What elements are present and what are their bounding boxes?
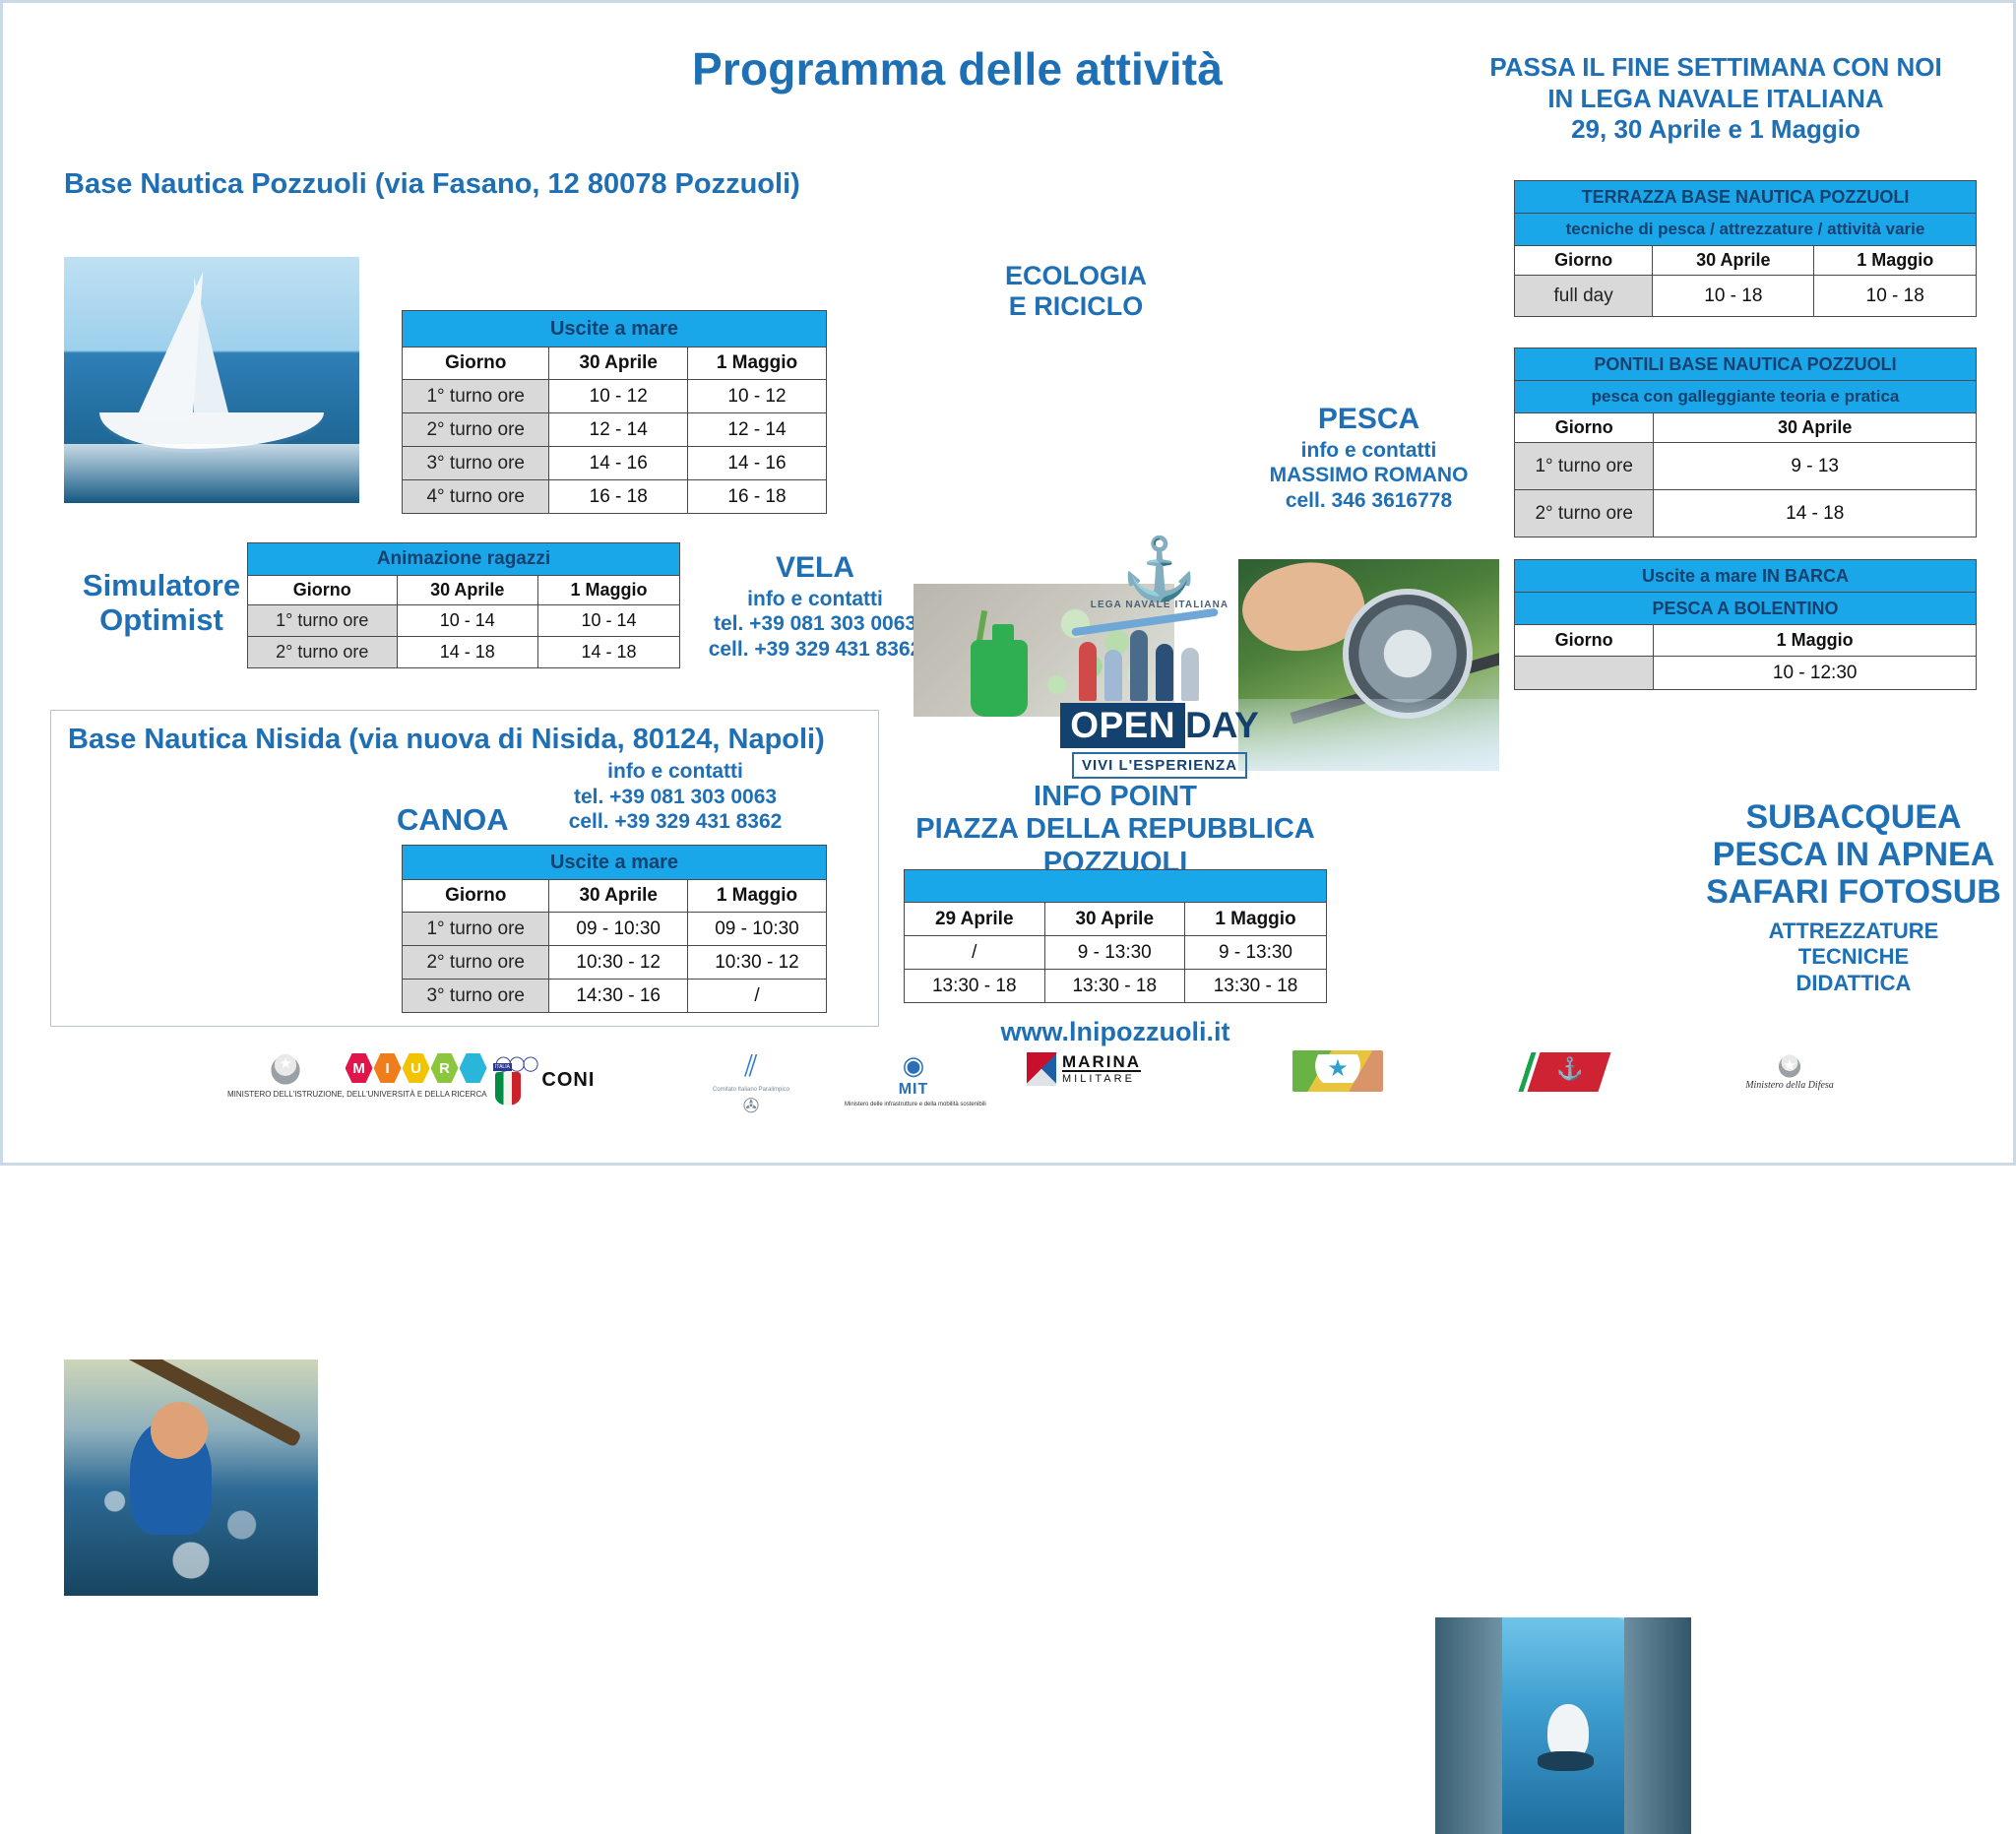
footer-logo-marina-militare: MARINA MILITARE bbox=[1027, 1052, 1141, 1086]
cell: 12 - 14 bbox=[687, 413, 826, 447]
table-subtitle: PESCA A BOLENTINO bbox=[1515, 593, 1977, 625]
col-header: Giorno bbox=[1515, 625, 1654, 657]
table-row: 2° turno ore 14 - 18 14 - 18 bbox=[248, 637, 680, 668]
page-title: Programma delle attività bbox=[692, 42, 1223, 95]
col-header: 1 Maggio bbox=[538, 576, 680, 605]
cell: 10 - 12:30 bbox=[1654, 657, 1977, 690]
cell: 13:30 - 18 bbox=[905, 970, 1045, 1003]
subacquea-line-1: SUBACQUEA bbox=[1706, 798, 2001, 836]
ecologia-line-1: ECOLOGIA bbox=[943, 261, 1209, 291]
row-header: 1° turno ore bbox=[248, 605, 398, 637]
difesa-caption: Ministero della Difesa bbox=[1716, 1080, 1863, 1091]
pesca-contact-block: PESCA info e contatti MASSIMO ROMANO cel… bbox=[1233, 402, 1504, 513]
table-row: 4° turno ore 16 - 18 16 - 18 bbox=[403, 480, 827, 514]
table-title: Uscite a mare IN BARCA bbox=[1515, 560, 1977, 593]
difesa-emblem-icon bbox=[1777, 1050, 1802, 1080]
table-title bbox=[905, 870, 1327, 903]
subacquea-subheading: ATTREZZATURE TECNICHE DIDATTICA bbox=[1706, 918, 2001, 996]
cell: 10 - 12 bbox=[687, 380, 826, 413]
table-row: 1° turno ore 10 - 14 10 - 14 bbox=[248, 605, 680, 637]
row-header: 2° turno ore bbox=[1515, 490, 1654, 538]
cell: / bbox=[687, 980, 826, 1013]
header-note: PASSA IL FINE SETTIMANA CON NOI IN LEGA … bbox=[1440, 52, 1991, 146]
row-header: 1° turno ore bbox=[403, 380, 549, 413]
footer-logo-lega-navale bbox=[1534, 1052, 1605, 1092]
table-title: Uscite a mare bbox=[403, 846, 827, 880]
row-header: 2° turno ore bbox=[403, 946, 549, 980]
row-header: 1° turno ore bbox=[403, 913, 549, 946]
openday-word: OPEN bbox=[1060, 703, 1185, 748]
cell: 10 - 12 bbox=[549, 380, 688, 413]
header-note-line-2: IN LEGA NAVALE ITALIANA bbox=[1440, 84, 1991, 115]
table-row: 1° turno ore 09 - 10:30 09 - 10:30 bbox=[403, 913, 827, 946]
table-title: Uscite a mare bbox=[403, 311, 827, 348]
col-header: 1 Maggio bbox=[1814, 246, 1977, 276]
table-row: / 9 - 13:30 9 - 13:30 bbox=[905, 936, 1327, 970]
subacquea-line-2: PESCA IN APNEA bbox=[1706, 836, 2001, 873]
cip-agitos-icon: ✇ bbox=[687, 1094, 815, 1118]
info-point-line-1: INFO POINT bbox=[889, 781, 1342, 813]
anchor-icon: ⚓ bbox=[1051, 542, 1268, 598]
footer-logo-regione-campania bbox=[1292, 1050, 1383, 1092]
coni-wordmark: CONI bbox=[541, 1069, 595, 1092]
cell: 14 - 18 bbox=[1654, 490, 1977, 538]
day-word: DAY bbox=[1185, 705, 1259, 745]
cell: 10 - 18 bbox=[1814, 276, 1977, 317]
col-header: Giorno bbox=[403, 348, 549, 380]
col-header: 30 Aprile bbox=[549, 348, 688, 380]
table-row: full day 10 - 18 10 - 18 bbox=[1515, 276, 1977, 317]
canoa-label: CANOA bbox=[397, 802, 509, 838]
info-point-heading: INFO POINT PIAZZA DELLA REPUBBLICA POZZU… bbox=[889, 781, 1342, 879]
row-header: 2° turno ore bbox=[403, 413, 549, 447]
table-subtitle: pesca con galleggiante teoria e pratica bbox=[1515, 381, 1977, 413]
row-header: full day bbox=[1515, 276, 1653, 317]
footer-logo-miur: M I U R MINISTERO DELL'ISTRUZIONE, DELL'… bbox=[227, 1048, 487, 1100]
cell: 14 - 18 bbox=[538, 637, 680, 668]
sailing-photo bbox=[64, 257, 359, 503]
table-uscite-barca: Uscite a mare IN BARCA PESCA A BOLENTINO… bbox=[1514, 559, 1977, 690]
canoe-photo bbox=[64, 1360, 318, 1596]
canoa-info-label: info e contatti bbox=[542, 759, 808, 785]
mit-caption: Ministero delle infrastrutture e della m… bbox=[845, 1102, 982, 1108]
ecologia-line-2: E RICICLO bbox=[943, 291, 1209, 322]
lni-org-label: LEGA NAVALE ITALIANA bbox=[1051, 600, 1268, 610]
col-header: 1 Maggio bbox=[687, 348, 826, 380]
pesca-info-label: info e contatti bbox=[1233, 438, 1504, 464]
mit-icon: ◉ bbox=[845, 1050, 982, 1081]
row-header: 3° turno ore bbox=[403, 447, 549, 480]
miur-caption: MINISTERO DELL'ISTRUZIONE, DELL'UNIVERSI… bbox=[227, 1091, 487, 1100]
footer-logos: M I U R MINISTERO DELL'ISTRUZIONE, DELL'… bbox=[3, 1043, 2016, 1151]
col-header: 30 Aprile bbox=[549, 880, 688, 913]
canoa-tel: tel. +39 081 303 0063 bbox=[542, 785, 808, 810]
miur-letter-m: M bbox=[346, 1053, 373, 1083]
table-uscite-mare-pozzuoli: Uscite a mare Giorno 30 Aprile 1 Maggio … bbox=[402, 310, 827, 514]
footer-logo-coni: ◯◯◯ CONI bbox=[495, 1054, 595, 1106]
lega-navale-icon bbox=[1528, 1052, 1611, 1092]
marina-flag-icon bbox=[1027, 1052, 1056, 1086]
row-header: 3° turno ore bbox=[403, 980, 549, 1013]
cell: 12 - 14 bbox=[549, 413, 688, 447]
vela-contact-block: VELA info e contatti tel. +39 081 303 00… bbox=[682, 550, 948, 662]
col-header: Giorno bbox=[1515, 413, 1654, 443]
subacquea-sub-1: ATTREZZATURE bbox=[1706, 918, 2001, 944]
canoa-cell: cell. +39 329 431 8362 bbox=[542, 809, 808, 835]
italy-shield-icon bbox=[495, 1072, 521, 1106]
row-header: 1° turno ore bbox=[1515, 443, 1654, 490]
table-row: 1° turno ore 9 - 13 bbox=[1515, 443, 1977, 490]
header-note-line-3: 29, 30 Aprile e 1 Maggio bbox=[1440, 114, 1991, 146]
ecologia-heading: ECOLOGIA E RICICLO bbox=[943, 261, 1209, 322]
vela-title: VELA bbox=[682, 550, 948, 587]
cell: 14:30 - 16 bbox=[549, 980, 688, 1013]
col-header: 30 Aprile bbox=[1653, 246, 1814, 276]
table-title: PONTILI BASE NAUTICA POZZUOLI bbox=[1515, 348, 1977, 381]
info-point-line-2: PIAZZA DELLA REPUBBLICA bbox=[889, 813, 1342, 846]
table-row: 2° turno ore 10:30 - 12 10:30 - 12 bbox=[403, 946, 827, 980]
cell: 14 - 16 bbox=[687, 447, 826, 480]
table-uscite-mare-nisida: Uscite a mare Giorno 30 Aprile 1 Maggio … bbox=[402, 845, 827, 1013]
regione-campania-icon bbox=[1292, 1050, 1383, 1092]
simulatore-line-2: Optimist bbox=[58, 603, 265, 638]
cip-caption: Comitato Italiano Paralimpico bbox=[687, 1087, 815, 1094]
table-row: 13:30 - 18 13:30 - 18 13:30 - 18 bbox=[905, 970, 1327, 1003]
col-header: 1 Maggio bbox=[687, 880, 826, 913]
cell: 9 - 13:30 bbox=[1044, 936, 1185, 970]
subacquea-sub-3: DIDATTICA bbox=[1706, 971, 2001, 996]
openday-tagline: VIVI L'ESPERIENZA bbox=[1072, 752, 1247, 779]
table-pontili: PONTILI BASE NAUTICA POZZUOLI pesca con … bbox=[1514, 348, 1977, 538]
cell: 14 - 18 bbox=[397, 637, 538, 668]
cell: 09 - 10:30 bbox=[549, 913, 688, 946]
subacquea-line-3: SAFARI FOTOSUB bbox=[1706, 873, 2001, 911]
table-row: 2° turno ore 14 - 18 bbox=[1515, 490, 1977, 538]
footer-logo-ministero-difesa: Ministero della Difesa bbox=[1716, 1050, 1863, 1091]
header-note-line-1: PASSA IL FINE SETTIMANA CON NOI bbox=[1440, 52, 1991, 84]
base-pozzuoli-heading: Base Nautica Pozzuoli (via Fasano, 12 80… bbox=[64, 168, 800, 201]
col-header: Giorno bbox=[403, 880, 549, 913]
pesca-title: PESCA bbox=[1233, 402, 1504, 438]
cell: 13:30 - 18 bbox=[1044, 970, 1185, 1003]
base-nisida-heading: Base Nautica Nisida (via nuova di Nisida… bbox=[68, 724, 825, 756]
cell: 16 - 18 bbox=[549, 480, 688, 514]
mit-wordmark: MIT bbox=[845, 1081, 982, 1099]
cell: 10 - 14 bbox=[397, 605, 538, 637]
italian-emblem-icon bbox=[269, 1048, 302, 1088]
row-header: 2° turno ore bbox=[248, 637, 398, 668]
table-row: 3° turno ore 14 - 16 14 - 16 bbox=[403, 447, 827, 480]
miur-letter-r1: R bbox=[431, 1053, 459, 1083]
col-header: 30 Aprile bbox=[1044, 903, 1185, 936]
cell: / bbox=[905, 936, 1045, 970]
vela-cell: cell. +39 329 431 8362 bbox=[682, 637, 948, 663]
people-illustration bbox=[1051, 616, 1268, 701]
militare-wordmark: MILITARE bbox=[1062, 1070, 1141, 1085]
row-header bbox=[1515, 657, 1654, 690]
row-header: 4° turno ore bbox=[403, 480, 549, 514]
cell: 13:30 - 18 bbox=[1185, 970, 1327, 1003]
subacquea-heading: SUBACQUEA PESCA IN APNEA SAFARI FOTOSUB bbox=[1706, 798, 2001, 911]
footer-logo-mit: ◉ MIT Ministero delle infrastrutture e d… bbox=[845, 1050, 982, 1108]
cell: 16 - 18 bbox=[687, 480, 826, 514]
subacquea-sub-2: TECNICHE bbox=[1706, 944, 2001, 970]
poster-root: Programma delle attività PASSA IL FINE S… bbox=[0, 0, 2016, 1166]
cell: 9 - 13:30 bbox=[1185, 936, 1327, 970]
diving-photo bbox=[1435, 1617, 1691, 1834]
col-header: 1 Maggio bbox=[1654, 625, 1977, 657]
simulatore-line-1: Simulatore bbox=[58, 569, 265, 603]
table-info-point: 29 Aprile 30 Aprile 1 Maggio / 9 - 13:30… bbox=[904, 869, 1327, 1003]
cell: 10 - 14 bbox=[538, 605, 680, 637]
cell: 9 - 13 bbox=[1654, 443, 1977, 490]
table-title: TERRAZZA BASE NAUTICA POZZUOLI bbox=[1515, 181, 1977, 214]
miur-letter-i: I bbox=[374, 1053, 402, 1083]
footer-logo-cip: ⫽ Comitato Italiano Paralimpico ✇ bbox=[687, 1050, 815, 1118]
paralympic-icon: ⫽ bbox=[687, 1050, 815, 1084]
vela-tel: tel. +39 081 303 0063 bbox=[682, 611, 948, 637]
col-header: 29 Aprile bbox=[905, 903, 1045, 936]
miur-letter-u: U bbox=[403, 1053, 430, 1083]
col-header: 30 Aprile bbox=[1654, 413, 1977, 443]
table-row: 3° turno ore 14:30 - 16 / bbox=[403, 980, 827, 1013]
table-title: Animazione ragazzi bbox=[248, 543, 680, 576]
table-row: 10 - 12:30 bbox=[1515, 657, 1977, 690]
table-row: 1° turno ore 10 - 12 10 - 12 bbox=[403, 380, 827, 413]
cell: 14 - 16 bbox=[549, 447, 688, 480]
col-header: Giorno bbox=[248, 576, 398, 605]
col-header: Giorno bbox=[1515, 246, 1653, 276]
miur-letter-r2 bbox=[460, 1053, 487, 1083]
table-row: 2° turno ore 12 - 14 12 - 14 bbox=[403, 413, 827, 447]
simulatore-optimist-label: Simulatore Optimist bbox=[58, 569, 265, 637]
canoa-contact-block: info e contatti tel. +39 081 303 0063 ce… bbox=[542, 759, 808, 835]
fishing-photo bbox=[1238, 559, 1499, 771]
col-header: 1 Maggio bbox=[1185, 903, 1327, 936]
cell: 10:30 - 12 bbox=[549, 946, 688, 980]
pesca-cell: cell. 346 3616778 bbox=[1233, 488, 1504, 514]
cell: 10:30 - 12 bbox=[687, 946, 826, 980]
cell: 10 - 18 bbox=[1653, 276, 1814, 317]
vela-info-label: info e contatti bbox=[682, 587, 948, 612]
marina-wordmark: MARINA bbox=[1062, 1053, 1141, 1070]
table-subtitle: tecniche di pesca / attrezzature / attiv… bbox=[1515, 214, 1977, 246]
lni-openday-logo: ⚓ LEGA NAVALE ITALIANA OPENDAY VIVI L'ES… bbox=[1051, 542, 1268, 779]
cell: 09 - 10:30 bbox=[687, 913, 826, 946]
pesca-contact-name: MASSIMO ROMANO bbox=[1233, 463, 1504, 488]
table-terrazza: TERRAZZA BASE NAUTICA POZZUOLI tecniche … bbox=[1514, 180, 1977, 317]
col-header: 30 Aprile bbox=[397, 576, 538, 605]
table-animazione-ragazzi: Animazione ragazzi Giorno 30 Aprile 1 Ma… bbox=[247, 542, 680, 668]
